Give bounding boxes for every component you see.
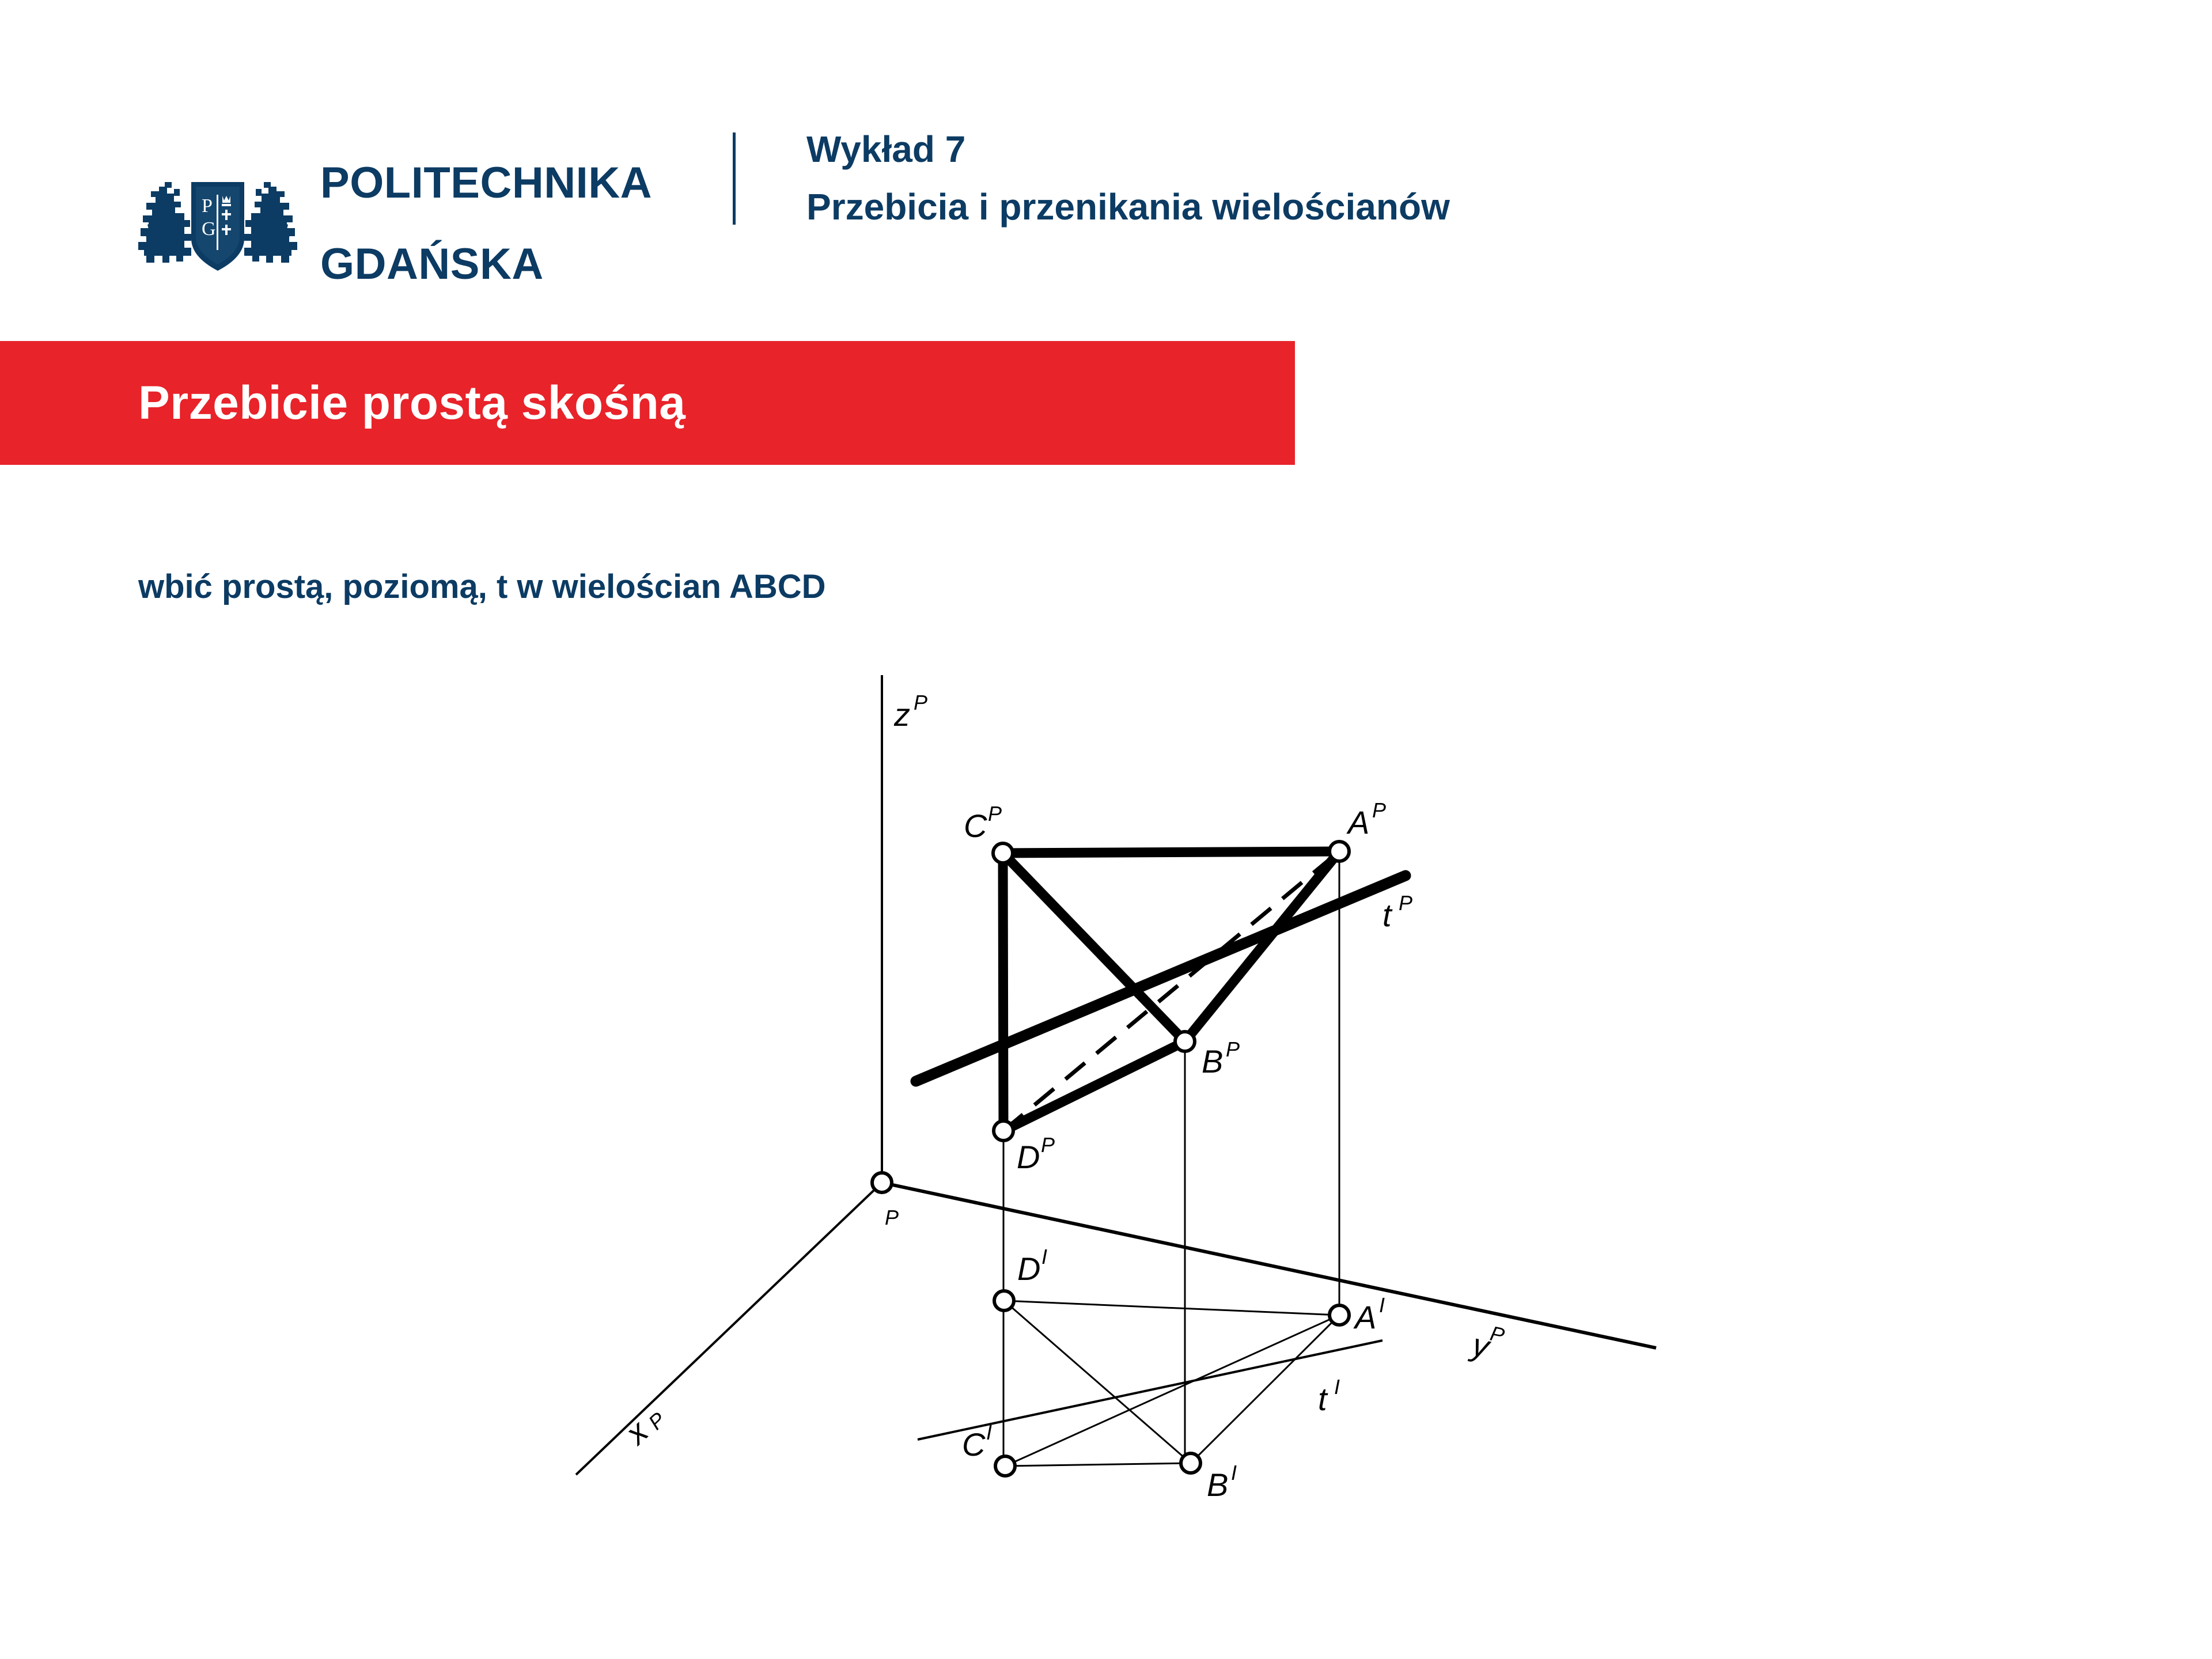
svg-text:P: P [1041,1133,1055,1157]
horizontal-projection-edges [1004,1301,1339,1466]
svg-text:D: D [1017,1251,1040,1287]
vertex-b-vertical [1175,1032,1195,1051]
x-axis-line [576,1183,882,1475]
vertex-a-vertical [1330,842,1349,861]
label-c-horizontal: C I [962,1421,992,1463]
y-axis-line [882,1183,1656,1348]
svg-text:B: B [1202,1043,1223,1080]
label-b-vertical: B P [1202,1037,1240,1080]
label-line-t-vertical: t P [1382,891,1412,933]
university-name: POLITECHNIKA GDAŃSKA [320,122,652,325]
section-banner: Przebicie prostą skośną [0,341,1295,465]
crest-letter-p: P [202,195,213,217]
descriptive-geometry-diagram: z P x P y P P A P B P C P D P A I B I [0,634,2212,1613]
pg-crest-icon: P G [131,169,304,279]
label-origin: P [885,1206,899,1229]
lecture-topic: Przebicia i przenikania wielościanów [806,185,1450,229]
lecture-number: Wykład 7 [806,128,1450,172]
vertex-markers [872,842,1349,1476]
page-title: Przebicie prostą skośną [138,376,685,430]
header-divider [733,132,736,225]
vertex-c-horizontal [995,1456,1015,1476]
svg-text:D: D [1017,1139,1040,1175]
svg-text:I: I [1041,1245,1047,1268]
label-d-vertical: D P [1017,1133,1055,1175]
svg-text:P: P [988,802,1002,825]
svg-text:C: C [962,1426,986,1463]
label-d-horizontal: D I [1017,1245,1047,1287]
svg-text:P: P [914,691,927,714]
svg-text:A: A [1346,804,1369,840]
vertex-c-vertical [993,843,1013,863]
svg-text:A: A [1353,1299,1376,1335]
label-b-horizontal: B I [1207,1461,1237,1503]
svg-text:P: P [1226,1037,1240,1061]
svg-text:P: P [1372,798,1386,822]
crest-letter-g: G [202,218,216,240]
university-name-line1: POLITECHNIKA [320,163,652,204]
label-x-axis: x P [617,1407,670,1452]
vertex-a-horizontal [1330,1305,1349,1325]
hidden-edge-da-vertical [1003,851,1339,1131]
header-title-block: Wykład 7 Przebicia i przenikania wielośc… [806,128,1450,229]
task-description: wbić prostą, poziomą, t w wielościan ABC… [138,567,825,606]
svg-text:P: P [643,1407,670,1434]
vertex-d-vertical [994,1121,1013,1141]
label-z-axis: z P [893,691,927,733]
label-a-horizontal: A I [1353,1293,1385,1335]
svg-text:P: P [1488,1321,1506,1347]
svg-text:I: I [986,1421,992,1444]
university-name-line2: GDAŃSKA [320,244,652,285]
svg-text:t: t [1318,1381,1328,1417]
svg-text:t: t [1382,897,1393,933]
svg-text:z: z [893,696,910,733]
svg-text:I: I [1231,1461,1237,1484]
svg-text:y: y [1467,1325,1494,1365]
svg-text:I: I [1334,1375,1340,1399]
svg-text:I: I [1379,1293,1385,1317]
diagram-svg: z P x P y P P A P B P C P D P A I B I [0,634,2212,1613]
vertex-d-horizontal [994,1291,1014,1310]
svg-text:C: C [964,808,987,844]
label-a-vertical: A P [1346,798,1386,840]
label-c-vertical: C P [964,802,1002,844]
label-line-t-horizontal: t I [1318,1375,1340,1417]
slide-header: P G POLITECHNIKA GDAŃSKA Wykład 7 Przebi… [0,0,2212,300]
label-y-axis: y P [1467,1321,1507,1365]
vertex-b-horizontal [1181,1453,1200,1473]
university-logo: P G POLITECHNIKA GDAŃSKA [131,122,652,325]
svg-text:P: P [885,1206,899,1229]
vertex-origin [872,1173,892,1192]
svg-text:P: P [1399,891,1412,915]
svg-text:B: B [1207,1467,1228,1503]
